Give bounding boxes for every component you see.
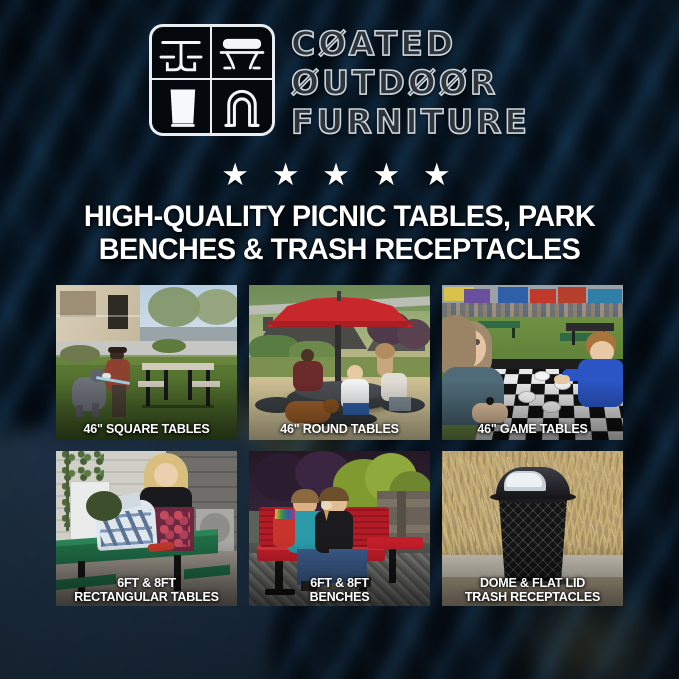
product-caption: DOME & FLAT LID TRASH RECEPTACLES (442, 576, 623, 604)
product-caption-line-2: TRASH RECEPTACLES (442, 590, 623, 604)
product-caption: 46" GAME TABLES (442, 422, 623, 436)
wordmark-line-1: CØATED (291, 25, 530, 63)
product-photo-round-tables (249, 285, 430, 440)
product-caption-line-1: 6FT & 8FT (56, 576, 237, 590)
brand-header: CØATED ØUTDØØR FURNITURE (0, 24, 679, 141)
bike-rack-icon (212, 80, 272, 133)
product-card-square-tables[interactable]: 46" SQUARE TABLES (56, 285, 237, 440)
product-caption-line-1: DOME & FLAT LID (442, 576, 623, 590)
wordmark-line-2: ØUTDØØR (291, 64, 530, 102)
headline-line-1: HIGH-QUALITY PICNIC TABLES, PARK (52, 200, 627, 233)
product-caption-line-1: 46" SQUARE TABLES (56, 422, 237, 436)
product-card-rectangular-tables[interactable]: 6FT & 8FT RECTANGULAR TABLES (56, 451, 237, 606)
product-grid: 46" SQUARE TABLES (56, 285, 623, 606)
product-card-trash-receptacles[interactable]: DOME & FLAT LID TRASH RECEPTACLES (442, 451, 623, 606)
product-photo-game-tables (442, 285, 623, 440)
product-caption: 6FT & 8FT RECTANGULAR TABLES (56, 576, 237, 604)
brand-wordmark: CØATED ØUTDØØR FURNITURE (291, 24, 530, 141)
brand-logo-mark (149, 24, 275, 136)
product-photo-square-tables (56, 285, 237, 440)
product-card-benches[interactable]: 6FT & 8FT BENCHES (249, 451, 430, 606)
headline-line-2: BENCHES & TRASH RECEPTACLES (52, 233, 627, 266)
poster-canvas: CØATED ØUTDØØR FURNITURE ★ ★ ★ ★ ★ HIGH-… (0, 0, 679, 679)
product-caption: 46" ROUND TABLES (249, 422, 430, 436)
product-caption-line-1: 6FT & 8FT (249, 576, 430, 590)
product-card-game-tables[interactable]: 46" GAME TABLES (442, 285, 623, 440)
product-caption: 46" SQUARE TABLES (56, 422, 237, 436)
star-rating: ★ ★ ★ ★ ★ (0, 158, 679, 192)
page-title: HIGH-QUALITY PICNIC TABLES, PARK BENCHES… (40, 200, 639, 266)
product-card-round-tables[interactable]: 46" ROUND TABLES (249, 285, 430, 440)
wordmark-line-3: FURNITURE (291, 103, 530, 141)
product-caption-line-1: 46" ROUND TABLES (249, 422, 430, 436)
picnic-table-icon (152, 27, 212, 80)
product-caption-line-2: BENCHES (249, 590, 430, 604)
product-caption: 6FT & 8FT BENCHES (249, 576, 430, 604)
park-bench-icon (212, 27, 272, 80)
trash-receptacle-icon (152, 80, 212, 133)
product-caption-line-2: RECTANGULAR TABLES (56, 590, 237, 604)
product-caption-line-1: 46" GAME TABLES (442, 422, 623, 436)
